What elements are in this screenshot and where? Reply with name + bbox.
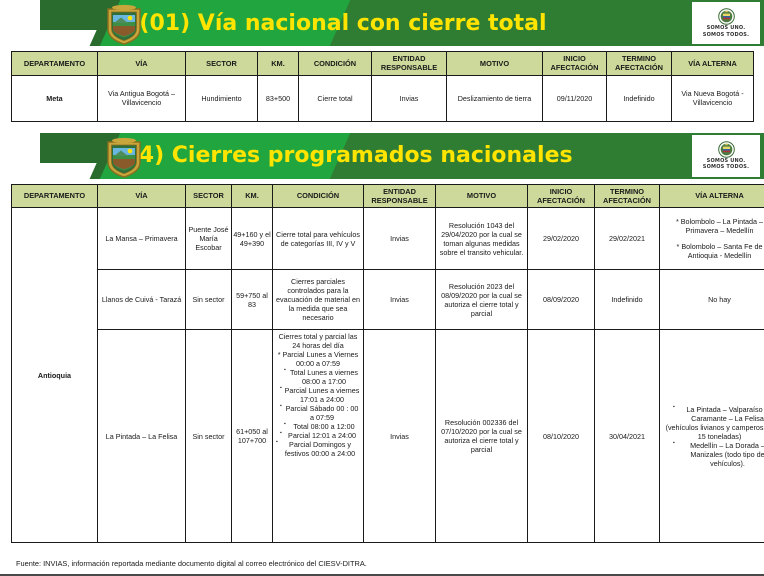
th-motivo: MOTIVO — [447, 52, 543, 76]
cell-via: La Pintada – La Felisa — [98, 330, 186, 543]
cell-motivo: Resolución 1043 del 29/04/2020 por la cu… — [436, 208, 528, 270]
cell-km: 83+500 — [258, 75, 299, 121]
table-row: Llanos de Cuivá - Tarazá Sin sector 59+7… — [12, 270, 764, 330]
table1-header-row: DEPARTAMENTO VÍA SECTOR KM. CONDICIÓN EN… — [12, 52, 754, 76]
alterna-bullet-list: Medellín – La Dorada – Manizales (todo t… — [661, 441, 764, 468]
th-termino-afectacion: TERMINO AFECTACIÓN — [595, 184, 660, 208]
table-row: Meta Via Antigua Bogotá – Villavicencio … — [12, 75, 754, 121]
cell-sector: Sin sector — [186, 330, 232, 543]
cell-inicio: 09/11/2020 — [543, 75, 607, 121]
th-departamento: DEPARTAMENTO — [12, 184, 98, 208]
th-inicio-afectacion: INICIO AFECTACIÓN — [543, 52, 607, 76]
th-condicion: CONDICIÓN — [299, 52, 372, 76]
condicion-bullet: Parcial Domingos y festivos 00:00 a 24:0… — [274, 440, 362, 458]
alterna-line: * Bolombolo – Santa Fe de Antioquia - Me… — [661, 242, 764, 260]
th-sector: SECTOR — [186, 52, 258, 76]
cell-motivo: Resolución 2023 del 08/09/2020 por la cu… — [436, 270, 528, 330]
banner-cierres-programados-nacionales: (14) Cierres programados nacionales SOMO… — [0, 133, 764, 179]
th-via: VÍA — [98, 184, 186, 208]
th-entidad-responsable: ENTIDAD RESPONSABLE — [364, 184, 436, 208]
gobierno-logo: SOMOS UNO. SOMOS TODOS. — [692, 135, 760, 177]
table-via-nacional-cierre-total: DEPARTAMENTO VÍA SECTOR KM. CONDICIÓN EN… — [11, 51, 754, 122]
colombia-shield-icon — [718, 141, 735, 158]
alterna-line: * Bolombolo – La Pintada – Primavera – M… — [661, 217, 764, 235]
th-km: KM. — [258, 52, 299, 76]
condicion-bullet: Parcial Lunes a viernes 17:01 a 24:00 — [274, 386, 362, 404]
alterna-subnote: (vehículos livianos y camperos de 15 ton… — [661, 423, 764, 441]
cell-km: 61+050 al 107+700 — [232, 330, 273, 543]
alterna-bullet-list: La Pintada – Valparaíso – Caramante – La… — [661, 405, 764, 423]
cell-sector: Hundimiento — [186, 75, 258, 121]
alterna-bullet: Medellín – La Dorada – Manizales (todo t… — [661, 441, 764, 468]
condicion-intro-line: Cierres total y parcial las 24 horas del… — [274, 332, 362, 350]
logo-line-2: SOMOS TODOS. — [703, 164, 749, 170]
th-motivo: MOTIVO — [436, 184, 528, 208]
th-via-alterna: VÍA ALTERNA — [672, 52, 754, 76]
invias-crest-icon — [104, 136, 144, 178]
invias-crest-icon — [104, 3, 144, 45]
cell-km: 49+160 y el 49+390 — [232, 208, 273, 270]
cell-termino: 30/04/2021 — [595, 330, 660, 543]
cell-inicio: 29/02/2020 — [528, 208, 595, 270]
condicion-bullet-list: Total Lunes a viernes 08:00 a 17:00 Parc… — [274, 368, 362, 458]
cell-km: 59+750 al 83 — [232, 270, 273, 330]
th-departamento: DEPARTAMENTO — [12, 52, 98, 76]
table-row: La Pintada – La Felisa Sin sector 61+050… — [12, 330, 764, 543]
logo-line-2: SOMOS TODOS. — [703, 32, 749, 38]
cell-motivo: Deslizamiento de tierra — [447, 75, 543, 121]
condicion-bullet: Total 08:00 a 12:00 — [274, 422, 362, 431]
cell-via-alterna: Via Nueva Bogotá - Villavicencio — [672, 75, 754, 121]
condicion-bullet: Parcial 12:01 a 24:00 — [274, 431, 362, 440]
cell-entidad: Invias — [364, 270, 436, 330]
cell-entidad: Invias — [372, 75, 447, 121]
th-entidad-responsable: ENTIDAD RESPONSABLE — [372, 52, 447, 76]
cell-entidad: Invias — [364, 330, 436, 543]
cell-via-alterna: La Pintada – Valparaíso – Caramante – La… — [660, 330, 764, 543]
cell-condicion: Cierres total y parcial las 24 horas del… — [273, 330, 364, 543]
th-sector: SECTOR — [186, 184, 232, 208]
banner1-title: (01) Vía nacional con cierre total — [0, 0, 686, 46]
cell-via-alterna: * Bolombolo – La Pintada – Primavera – M… — [660, 208, 764, 270]
cell-entidad: Invias — [364, 208, 436, 270]
spacer — [661, 235, 764, 242]
th-via-alterna: VÍA ALTERNA — [660, 184, 764, 208]
cell-via: La Mansa – Primavera — [98, 208, 186, 270]
cell-sector: Puente José María Escobar — [186, 208, 232, 270]
cell-departamento: Meta — [12, 75, 98, 121]
cell-condicion: Cierres parciales controlados para la ev… — [273, 270, 364, 330]
cell-termino: Indefinido — [607, 75, 672, 121]
table-cierres-programados-nacionales: DEPARTAMENTO VÍA SECTOR KM. CONDICIÓN EN… — [11, 184, 764, 544]
th-inicio-afectacion: INICIO AFECTACIÓN — [528, 184, 595, 208]
cell-via: Llanos de Cuivá - Tarazá — [98, 270, 186, 330]
cell-inicio: 08/09/2020 — [528, 270, 595, 330]
th-termino-afectacion: TERMINO AFECTACIÓN — [607, 52, 672, 76]
th-km: KM. — [232, 184, 273, 208]
cell-motivo: Resolución 002336 del 07/10/2020 por la … — [436, 330, 528, 543]
source-footnote: Fuente: INVIAS, información reportada me… — [16, 559, 367, 568]
th-condicion: CONDICIÓN — [273, 184, 364, 208]
cell-departamento: Antioquia — [12, 208, 98, 543]
th-via: VÍA — [98, 52, 186, 76]
condicion-intro-line: * Parcial Lunes a Viernes 00:00 a 07:59 — [274, 350, 362, 368]
cell-condicion: Cierre total para vehículos de categoría… — [273, 208, 364, 270]
colombia-shield-icon — [718, 8, 735, 25]
condicion-bullet: Parcial Sábado 00 : 00 a 07:59 — [274, 404, 362, 422]
report-page: (01) Vía nacional con cierre total SOMOS… — [0, 0, 764, 576]
cell-termino: Indefinido — [595, 270, 660, 330]
cell-via: Via Antigua Bogotá – Villavicencio — [98, 75, 186, 121]
cell-termino: 29/02/2021 — [595, 208, 660, 270]
cell-inicio: 08/10/2020 — [528, 330, 595, 543]
cell-condicion: Cierre total — [299, 75, 372, 121]
cell-sector: Sin sector — [186, 270, 232, 330]
table2-header-row: DEPARTAMENTO VÍA SECTOR KM. CONDICIÓN EN… — [12, 184, 764, 208]
condicion-bullet: Total Lunes a viernes 08:00 a 17:00 — [274, 368, 362, 386]
alterna-bullet: La Pintada – Valparaíso – Caramante – La… — [661, 405, 764, 423]
gobierno-logo: SOMOS UNO. SOMOS TODOS. — [692, 2, 760, 44]
table-row: Antioquia La Mansa – Primavera Puente Jo… — [12, 208, 764, 270]
banner2-title: (14) Cierres programados nacionales — [0, 133, 686, 179]
cell-via-alterna: No hay — [660, 270, 764, 330]
banner-via-nacional-cierre-total: (01) Vía nacional con cierre total SOMOS… — [0, 0, 764, 46]
